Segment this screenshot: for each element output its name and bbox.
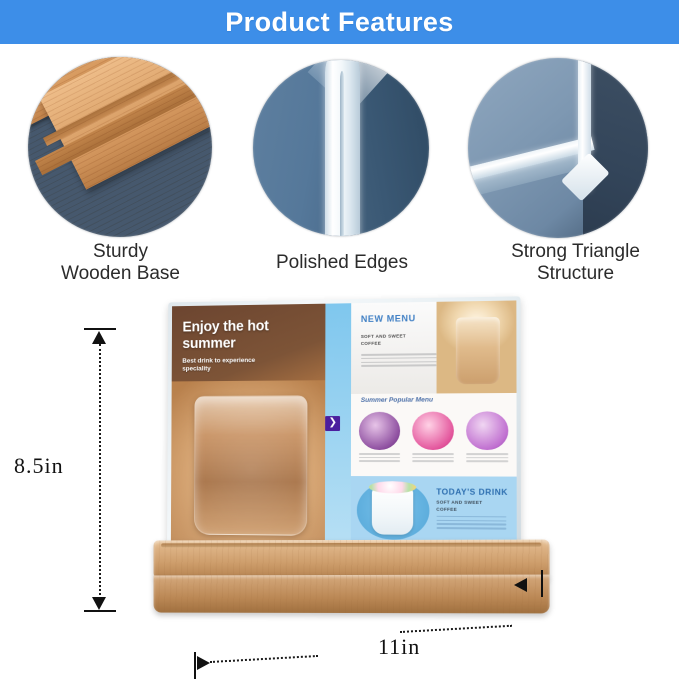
- popular-thumb-1: [359, 412, 400, 464]
- polished-edge-image: [253, 60, 429, 236]
- poster-left-heading-block: Enjoy the hot summer Best drink to exper…: [182, 318, 311, 374]
- new-menu-body-text: [361, 353, 437, 369]
- caption-line-1: Strong Triangle: [478, 241, 673, 263]
- todays-drink-subheading: SOFT AND SWEET COFFEE: [436, 499, 482, 513]
- product-sign-holder: Enjoy the hot summer Best drink to exper…: [163, 299, 518, 547]
- new-menu-sub-line2: COFFEE: [361, 340, 406, 347]
- width-dimension-label: 11in: [378, 634, 420, 660]
- width-dim-line-left: [210, 655, 318, 663]
- todays-drink-sub-line2: COFFEE: [436, 506, 482, 513]
- height-dim-bottom-cap: [84, 610, 116, 612]
- width-dim-line-right: [400, 625, 512, 633]
- chevron-right-icon: ❯: [325, 416, 340, 431]
- iced-coffee-glass-photo: [194, 395, 308, 536]
- caption-line-2: Wooden Base: [18, 263, 223, 285]
- coffee-cup-photo: [456, 317, 499, 384]
- summer-popular-menu-section: Summer Popular Menu: [351, 393, 517, 476]
- feature-caption-strong-triangle-structure: Strong Triangle Structure: [478, 241, 673, 285]
- poster-left-title-line2: summer: [182, 334, 311, 352]
- poster-left-subtitle-line2: speciality: [182, 365, 311, 375]
- new-menu-sub-line1: SOFT AND SWEET: [361, 333, 406, 340]
- height-dimension-label: 8.5in: [14, 453, 64, 479]
- height-dim-arrow-up: [92, 331, 106, 344]
- poster-left-title-line1: Enjoy the hot: [182, 318, 311, 336]
- todays-drink-heading: TODAY'S DRINK: [436, 487, 508, 497]
- caption-line-2: Structure: [478, 263, 673, 285]
- new-menu-section: NEW MENU SOFT AND SWEET COFFEE: [351, 300, 517, 394]
- triangle-structure-image: [468, 58, 648, 238]
- feature-sturdy-wooden-base: [28, 57, 212, 237]
- width-dim-right-cap: [541, 570, 543, 597]
- poster-right-panel: NEW MENU SOFT AND SWEET COFFEE Summer Po…: [351, 300, 517, 545]
- product-wooden-base-front: [154, 575, 550, 614]
- todays-drink-cup-photo: [372, 487, 413, 535]
- feature-caption-sturdy-wooden-base: Sturdy Wooden Base: [18, 241, 223, 285]
- popular-menu-heading: Summer Popular Menu: [361, 397, 433, 404]
- width-dim-left-cap: [194, 652, 196, 679]
- poster-left-panel: Enjoy the hot summer Best drink to exper…: [171, 303, 351, 543]
- feature-strong-triangle-structure: [468, 58, 648, 238]
- new-menu-subheading: SOFT AND SWEET COFFEE: [361, 333, 406, 347]
- popular-menu-thumbnails: [359, 411, 508, 464]
- todays-drink-body-text: [436, 516, 506, 532]
- acrylic-frame: Enjoy the hot summer Best drink to exper…: [167, 296, 521, 549]
- todays-drink-sub-line1: SOFT AND SWEET: [436, 499, 482, 506]
- product-feature-infographic: Product Features Sturdy Wooden Base Poli…: [0, 0, 679, 679]
- poster-insert: Enjoy the hot summer Best drink to exper…: [171, 300, 517, 545]
- caption-line-1: Sturdy: [18, 241, 223, 263]
- feature-polished-edges: [253, 60, 429, 236]
- header-banner: Product Features: [0, 0, 679, 44]
- page-title: Product Features: [225, 9, 453, 36]
- popular-thumb-2: [412, 412, 454, 465]
- new-menu-heading: NEW MENU: [361, 313, 416, 324]
- todays-drink-section: TODAY'S DRINK SOFT AND SWEET COFFEE: [351, 476, 517, 545]
- height-dim-arrow-down: [92, 597, 106, 610]
- popular-thumb-3: [466, 411, 508, 464]
- width-dim-arrow-left: [197, 656, 210, 670]
- height-dim-line: [99, 344, 101, 599]
- feature-caption-polished-edges: Polished Edges: [238, 252, 446, 274]
- height-dim-top-cap: [84, 328, 116, 330]
- width-dim-arrow-right: [514, 578, 527, 592]
- caption-line-1: Polished Edges: [238, 252, 446, 274]
- wooden-base-image: [28, 57, 212, 237]
